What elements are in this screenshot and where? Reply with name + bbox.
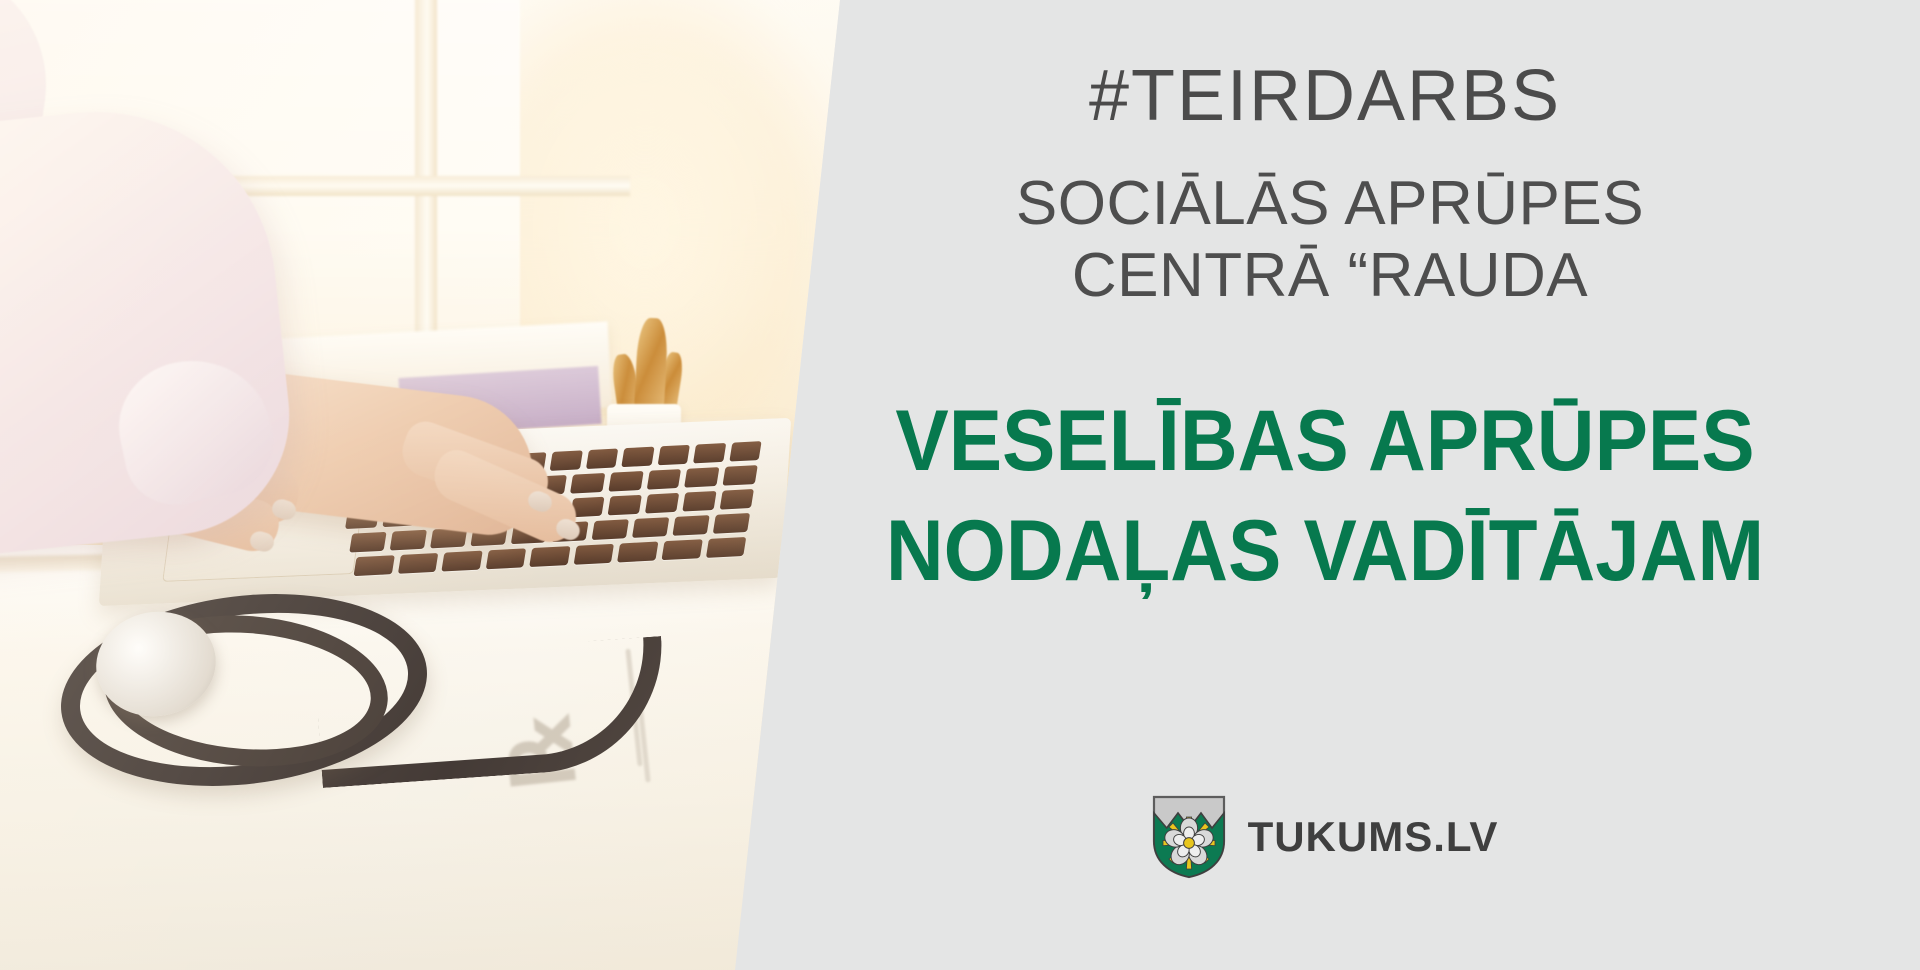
job-advert-banner: ℞ #TEIRDARBS SOCIĀLĀS APRŪPES CENTRĀ “RA… [0, 0, 1920, 970]
job-position-heading: VESELĪBAS APRŪPES NODAĻAS VADĪTĀJAM [790, 386, 1860, 606]
text-panel: #TEIRDARBS SOCIĀLĀS APRŪPES CENTRĀ “RAUD… [730, 0, 1920, 970]
job-position-line-2: NODAĻAS VADĪTĀJAM [790, 496, 1860, 606]
tukums-logo[interactable]: TUKUMS.LV [730, 795, 1920, 879]
job-position-line-1: VESELĪBAS APRŪPES [790, 386, 1860, 496]
tukums-coat-of-arms-icon [1152, 795, 1226, 879]
hashtag-heading: #TEIRDARBS [730, 60, 1920, 132]
organisation-subheading: SOCIĀLĀS APRŪPES CENTRĀ “RAUDA [770, 168, 1890, 312]
organisation-subheading-line-1: SOCIĀLĀS APRŪPES [770, 168, 1890, 240]
tukums-logo-text: TUKUMS.LV [1248, 816, 1499, 858]
organisation-subheading-line-2: CENTRĀ “RAUDA [770, 240, 1890, 312]
